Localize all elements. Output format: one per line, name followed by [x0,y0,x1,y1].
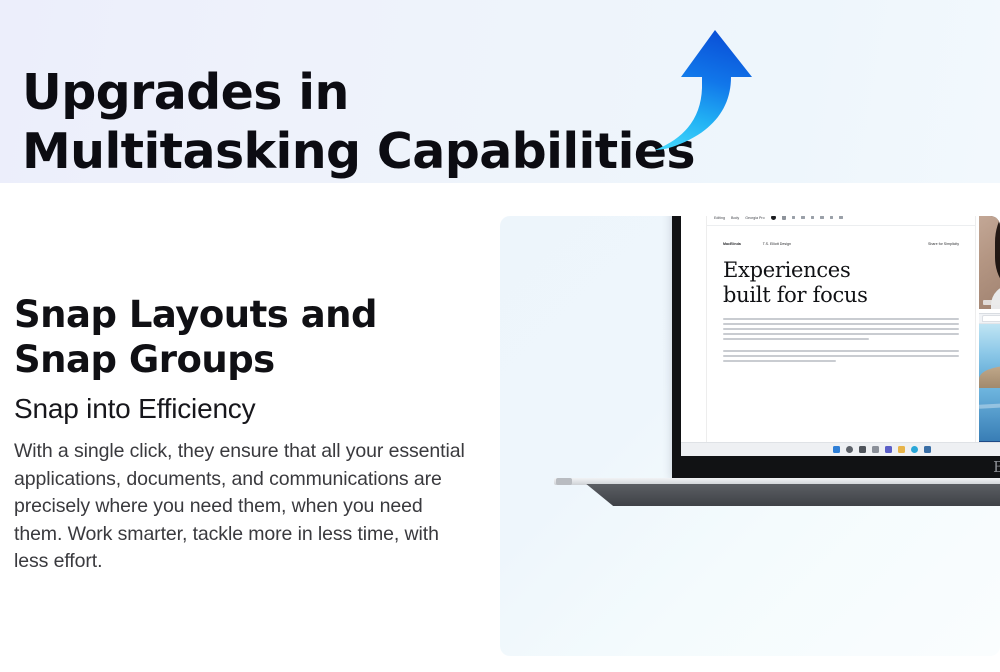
browser-tab[interactable] [982,315,1000,322]
text-color-icon[interactable] [771,216,776,220]
curved-up-arrow-icon [655,22,765,157]
hero-banner: Upgrades in Multitasking Capabilities [0,0,1000,183]
laptop-brand-label: Blackview [672,458,1000,476]
document-window[interactable]: Experiences built for focus [707,216,975,448]
laptop-base [554,484,1000,506]
document-meta: MacElinda T.S. Elliott Design Share for … [723,242,959,246]
document-ribbon[interactable]: Editing Body Georgia Pro [707,216,975,226]
laptop-base-top [554,478,1000,485]
document-right-meta: Share for Simplicity [928,242,959,246]
video-feed [979,216,1000,309]
feature-heading: Snap Layouts and Snap Groups [14,292,466,382]
numbered-list-icon[interactable] [820,216,824,219]
desktop-app-icons[interactable] [979,426,1000,435]
laptop-screen: Experiences built for focus [681,216,1000,456]
highlight-icon[interactable] [782,216,786,220]
desktop-window-titlebar [979,314,1000,324]
feature-body-text: With a single click, they ensure that al… [14,438,466,576]
italic-icon[interactable] [792,216,796,219]
laptop-lid: Experiences built for focus [672,216,1000,478]
document-body: MacElinda T.S. Elliott Design Share for … [707,226,975,450]
hero-title: Upgrades in Multitasking Capabilities [22,63,695,181]
windows-taskbar[interactable] [681,442,1000,456]
ribbon-style-label[interactable]: Body [731,216,739,220]
promo-page: Upgrades in Multitasking Capabilities Sn… [0,0,1000,672]
ribbon-editing-label[interactable]: Editing [714,216,725,220]
underline-icon[interactable] [801,216,805,219]
desktop-preview-window[interactable] [979,313,1000,451]
desktop-wallpaper [979,324,1000,451]
feature-text-column: Snap Layouts and Snap Groups Snap into E… [14,292,466,576]
align-icon[interactable] [830,216,834,219]
teams-icon[interactable] [885,446,892,453]
task-view-icon[interactable] [872,446,879,453]
document-paragraph [723,318,959,340]
document-paragraph [723,350,959,362]
widgets-icon[interactable] [859,446,866,453]
search-icon[interactable] [846,446,853,453]
document-heading: Experiences built for focus [723,258,959,308]
file-explorer-icon[interactable] [898,446,905,453]
edge-icon[interactable] [911,446,918,453]
ribbon-font-label[interactable]: Georgia Pro [745,216,764,220]
video-name-tag [983,300,1000,305]
start-icon[interactable] [833,446,840,453]
store-icon[interactable] [924,446,931,453]
laptop-base-hinge [556,478,572,485]
feature-subheading: Snap into Efficiency [14,392,466,426]
laptop-device: Experiences built for focus [672,216,1000,608]
video-call-window[interactable]: Maya Saputra [979,216,1000,309]
more-ribbon-icon[interactable] [839,216,843,219]
document-section: T.S. Elliott Design [763,242,791,246]
bullet-list-icon[interactable] [811,216,815,219]
product-visual-panel: Experiences built for focus [500,216,1000,656]
document-author: MacElinda [723,242,741,246]
